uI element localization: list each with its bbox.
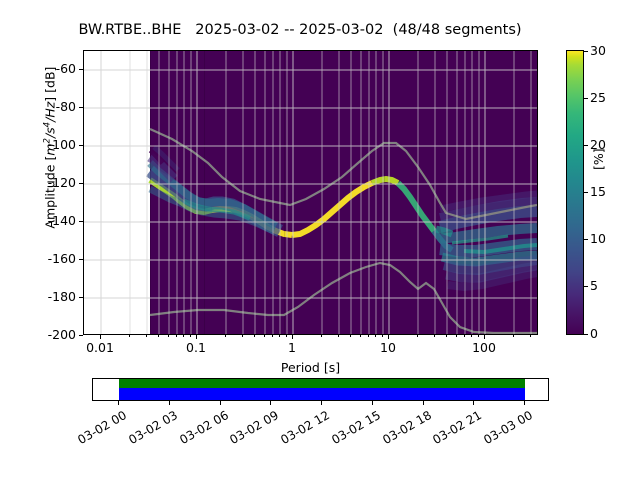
- y-tick-label: -120: [30, 177, 76, 190]
- x-tick-label: 0.01: [70, 340, 130, 355]
- y-tick-label: -160: [30, 253, 76, 266]
- x-minor-tick-mark: [272, 335, 273, 337]
- x-minor-tick-mark: [464, 335, 465, 337]
- x-tick-mark: [484, 335, 485, 339]
- coverage-bar-available: [119, 379, 525, 388]
- x-minor-tick-mark: [158, 335, 159, 337]
- x-tick-mark: [196, 335, 197, 339]
- x-minor-tick-mark: [478, 335, 479, 337]
- x-minor-tick-mark: [434, 335, 435, 337]
- x-minor-tick-mark: [168, 335, 169, 337]
- x-minor-tick-mark: [254, 335, 255, 337]
- x-minor-tick-mark: [183, 335, 184, 337]
- x-tick-label: 100: [454, 340, 514, 355]
- timeline-tick: [169, 401, 170, 405]
- x-tick-label: 1: [262, 340, 322, 355]
- x-minor-tick-mark: [382, 335, 383, 337]
- colorbar-gradient: [566, 50, 584, 335]
- colorbar-tick: [584, 98, 588, 99]
- x-minor-tick-mark: [286, 335, 287, 337]
- x-minor-tick-mark: [446, 335, 447, 337]
- x-minor-tick-mark: [242, 335, 243, 337]
- x-minor-tick-mark: [338, 335, 339, 337]
- x-minor-tick-mark: [368, 335, 369, 337]
- colorbar-tick: [584, 239, 588, 240]
- coverage-bar-used: [119, 388, 525, 400]
- y-tick-label: -80: [30, 101, 76, 114]
- timeline-tick: [118, 401, 119, 405]
- y-tick-label: -100: [30, 139, 76, 152]
- x-tick-label: 10: [358, 340, 418, 355]
- timeline-tick: [220, 401, 221, 405]
- timeline-tick: [372, 401, 373, 405]
- x-minor-tick-mark: [321, 335, 322, 337]
- x-minor-tick-mark: [176, 335, 177, 337]
- colorbar-tick-label: 0: [590, 328, 598, 341]
- timeline-tick: [524, 401, 525, 405]
- x-minor-tick-mark: [350, 335, 351, 337]
- x-minor-tick-mark: [513, 335, 514, 337]
- y-tick-label: -180: [30, 291, 76, 304]
- x-minor-tick-mark: [360, 335, 361, 337]
- x-tick-mark: [388, 335, 389, 339]
- x-tick-label: 0.1: [166, 340, 226, 355]
- x-minor-tick-mark: [146, 335, 147, 337]
- x-minor-tick-mark: [471, 335, 472, 337]
- colorbar[interactable]: 0 5 10 15 20 25 30: [566, 50, 584, 335]
- colorbar-tick-label: 25: [590, 92, 606, 105]
- colorbar-tick-label: 5: [590, 280, 598, 293]
- timeline-tick: [321, 401, 322, 405]
- x-tick-mark: [100, 335, 101, 339]
- timeline-tick: [473, 401, 474, 405]
- colorbar-tick-label: 30: [590, 45, 606, 58]
- x-minor-tick-mark: [375, 335, 376, 337]
- x-minor-tick-mark: [190, 335, 191, 337]
- y-tick-label: -140: [30, 215, 76, 228]
- timeline-tick: [270, 401, 271, 405]
- x-minor-tick-mark: [264, 335, 265, 337]
- x-axis-label: Period [s]: [83, 360, 538, 375]
- colorbar-label: [%]: [591, 148, 606, 170]
- data-coverage-timeline[interactable]: [92, 378, 549, 401]
- colorbar-tick: [584, 286, 588, 287]
- colorbar-tick: [584, 192, 588, 193]
- y-axis-ticks: -60 -80 -100 -120 -140 -160 -180 -200: [26, 0, 76, 480]
- x-minor-tick-mark: [225, 335, 226, 337]
- x-minor-tick-mark: [279, 335, 280, 337]
- colorbar-tick-label: 15: [590, 186, 606, 199]
- ppsd-figure: BW.RTBE..BHE 2025-03-02 -- 2025-03-02 (4…: [0, 0, 640, 480]
- y-tick-mark: [79, 335, 83, 336]
- x-minor-tick-mark: [129, 335, 130, 337]
- ppsd-plot-area[interactable]: [83, 50, 538, 335]
- colorbar-tick: [584, 51, 588, 52]
- colorbar-tick: [584, 334, 588, 335]
- x-tick-mark: [292, 335, 293, 339]
- x-minor-tick-mark: [530, 335, 531, 337]
- ppsd-canvas: [84, 51, 537, 334]
- page-title: BW.RTBE..BHE 2025-03-02 -- 2025-03-02 (4…: [0, 22, 600, 38]
- colorbar-tick: [584, 145, 588, 146]
- x-minor-tick-mark: [456, 335, 457, 337]
- x-minor-tick-mark: [417, 335, 418, 337]
- y-tick-label: -60: [30, 63, 76, 76]
- colorbar-tick-label: 10: [590, 233, 606, 246]
- timeline-tick: [423, 401, 424, 405]
